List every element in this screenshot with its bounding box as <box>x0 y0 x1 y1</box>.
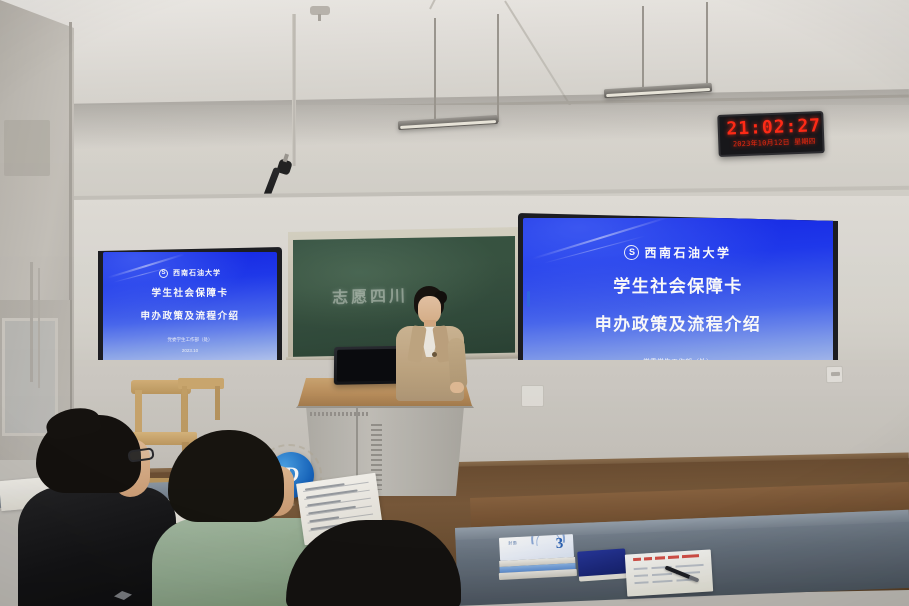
right-display[interactable]: S 西南石油大学 学生社会保障卡 申办政策及流程介绍 党委学生工作部（处） 20… <box>518 213 838 378</box>
left-display[interactable]: S 西南石油大学 学生社会保障卡 申办政策及流程介绍 党委学生工作部（处） 20… <box>98 247 282 367</box>
slide-content-right: S 西南石油大学 学生社会保障卡 申办政策及流程介绍 党委学生工作部（处） 20… <box>523 218 833 373</box>
slide-title-line2: 申办政策及流程介绍 <box>140 310 239 324</box>
slide-logo-text: 西南石油大学 <box>173 268 221 278</box>
light-cable <box>706 2 708 86</box>
slide-title-line2: 申办政策及流程介绍 <box>595 312 762 337</box>
student-hair <box>286 520 461 606</box>
classroom-photo-scene: 21:02:27 2023年10月12日 星期四 S 西南石油大学 学生社会保障… <box>0 0 909 606</box>
notebook-handwriting <box>308 506 356 515</box>
lectern-vent <box>310 412 370 416</box>
student-foreground-right <box>286 520 476 606</box>
wall-panel-box[interactable] <box>521 385 544 407</box>
clock-time: 21:02:27 <box>725 116 822 139</box>
glasses-icon <box>127 447 154 463</box>
led-wall-clock: 21:02:27 2023年10月12日 星期四 <box>717 111 824 157</box>
chair-post <box>215 386 220 420</box>
book-cover-caption: 封面 <box>508 540 517 546</box>
projector-mount-pole <box>292 14 296 166</box>
form-row <box>634 578 696 583</box>
slide-title-line1: 学生社会保障卡 <box>151 287 228 301</box>
light-cable <box>497 14 499 122</box>
left-display-panel: S 西南石油大学 学生社会保障卡 申办政策及流程介绍 党委学生工作部（处） 20… <box>103 252 277 362</box>
wall-socket[interactable] <box>826 366 843 383</box>
slide-logo-row: S 西南石油大学 <box>159 268 221 278</box>
slide-logo-text: 西南石油大学 <box>644 244 731 261</box>
display-indicator-led <box>527 291 530 307</box>
book-stack[interactable]: 封面 3 <box>497 534 577 580</box>
right-display-panel: S 西南石油大学 学生社会保障卡 申办政策及流程介绍 党委学生工作部（处） 20… <box>523 218 833 373</box>
form-paper[interactable] <box>625 549 713 596</box>
swpu-emblem-icon: S <box>624 245 639 260</box>
presenter-jacket-button <box>432 352 437 357</box>
slide-date: 2023.10 <box>182 348 198 353</box>
wall-conduit <box>30 262 33 382</box>
blue-notebook[interactable] <box>577 548 627 577</box>
light-cable <box>434 18 436 124</box>
jacket-logo-icon <box>114 591 132 600</box>
sprinkler-head-icon <box>310 6 330 15</box>
slide-subtitle: 党委学生工作部（处） <box>168 337 213 343</box>
slide-content-left: S 西南石油大学 学生社会保障卡 申办政策及流程介绍 党委学生工作部（处） 20… <box>103 252 277 362</box>
notebook-handwriting <box>306 489 358 498</box>
wall-conduit <box>38 268 40 388</box>
slide-title-line1: 学生社会保障卡 <box>613 274 743 299</box>
form-header-text <box>633 554 699 561</box>
light-cable <box>642 6 644 92</box>
student-hair <box>168 430 284 522</box>
presenter-hand <box>450 382 464 393</box>
wall-patch <box>4 120 50 176</box>
slide-logo-row: S 西南石油大学 <box>624 244 731 261</box>
presenter <box>388 286 472 401</box>
